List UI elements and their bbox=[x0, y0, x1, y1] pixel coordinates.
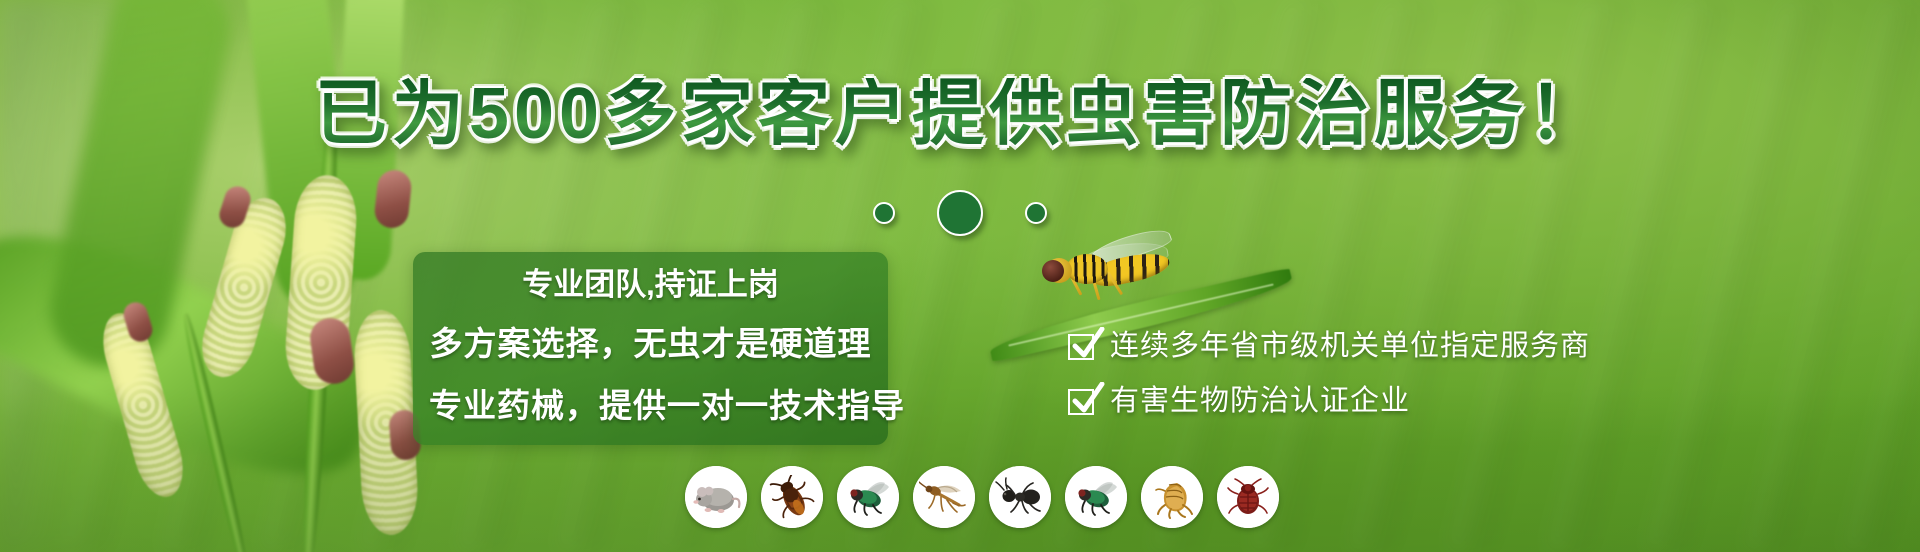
list-item-label: 连续多年省市级机关单位指定服务商 bbox=[1110, 332, 1590, 361]
pest-control-hero-banner: 已为500多家客户提供虫害防治服务！ 已为500多家客户提供虫害防治服务！ 专业… bbox=[0, 0, 1920, 552]
checkmark-icon bbox=[1068, 389, 1094, 415]
flea-icon bbox=[1147, 475, 1197, 519]
hoverfly-icon bbox=[1040, 242, 1170, 304]
page-title: 已为500多家客户提供虫害防治服务！ bbox=[0, 78, 1920, 150]
list-item: 连续多年省市级机关单位指定服务商 bbox=[1068, 332, 1590, 361]
feature-line-2: 多方案选择，无虫才是硬道理 bbox=[429, 314, 872, 374]
hoverfly-thorax bbox=[1066, 254, 1108, 284]
checkmark-icon bbox=[1068, 334, 1094, 360]
pest-type-icon-row: 鼠 蟑螂 bbox=[685, 466, 1279, 528]
ant-icon bbox=[995, 475, 1045, 519]
bedbug-icon bbox=[1223, 475, 1273, 519]
mouse-icon bbox=[691, 475, 741, 519]
pest-circle-cockroach: 蟑螂 bbox=[761, 466, 823, 528]
headline-region: 已为500多家客户提供虫害防治服务！ 已为500多家客户提供虫害防治服务！ bbox=[0, 0, 1920, 190]
fly-icon-2 bbox=[1071, 475, 1121, 519]
dot-large-center-icon bbox=[937, 190, 983, 236]
pest-circle-ant: 蚂蚁 bbox=[989, 466, 1051, 528]
feature-line-3: 专业药械，提供一对一技术指导 bbox=[429, 376, 872, 436]
pest-circle-fly-2: 苍蝇 bbox=[1065, 466, 1127, 528]
pest-circle-flea: 跳蚤 bbox=[1141, 466, 1203, 528]
fly-icon bbox=[843, 475, 893, 519]
pest-circle-fly: 苍蝇 bbox=[837, 466, 899, 528]
list-item: 有害生物防治认证企业 bbox=[1068, 387, 1590, 416]
dot-small-right-icon bbox=[1025, 202, 1047, 224]
features-panel: 专业团队,持证上岗 多方案选择，无虫才是硬道理 专业药械，提供一对一技术指导 bbox=[413, 252, 888, 445]
credentials-checklist: 连续多年省市级机关单位指定服务商 有害生物防治认证企业 bbox=[1068, 332, 1590, 416]
pest-circle-mouse: 鼠 bbox=[685, 466, 747, 528]
list-item-label: 有害生物防治认证企业 bbox=[1110, 387, 1410, 416]
feature-line-1: 专业团队,持证上岗 bbox=[429, 258, 872, 312]
mosquito-icon bbox=[919, 475, 969, 519]
decorative-dot-group bbox=[873, 190, 1047, 236]
dot-small-left-icon bbox=[873, 202, 895, 224]
hoverfly-eye bbox=[1042, 260, 1064, 282]
pest-circle-bedbug: 臭虫 bbox=[1217, 466, 1279, 528]
cockroach-icon bbox=[767, 475, 817, 519]
pest-circle-mosquito: 蚊 bbox=[913, 466, 975, 528]
